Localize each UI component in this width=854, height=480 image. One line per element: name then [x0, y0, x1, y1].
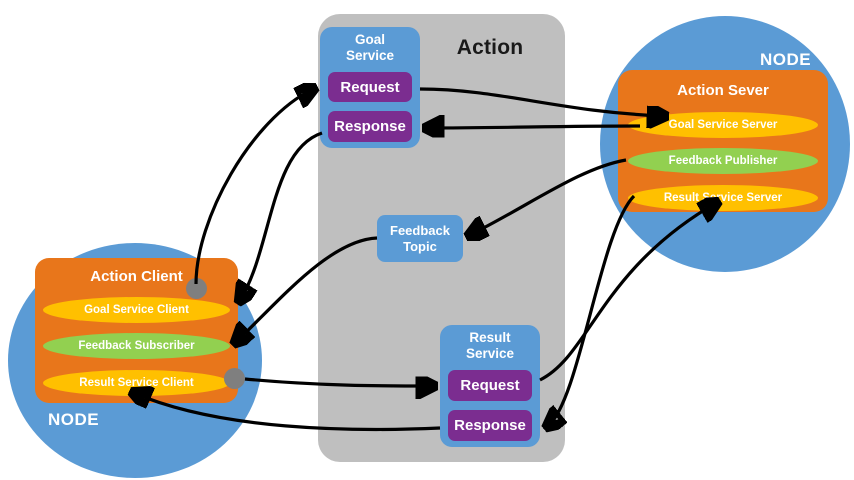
goal-service-title-line2: Service — [346, 48, 394, 63]
pill-feedback-subscriber[interactable]: Feedback Subscriber — [43, 333, 230, 359]
pill-goal-service-server[interactable]: Goal Service Server — [628, 112, 818, 138]
action-client-title: Action Client — [35, 268, 238, 285]
action-server-title: Action Sever — [618, 82, 828, 99]
feedback-topic-box[interactable]: Feedback Topic — [377, 215, 463, 262]
pill-result-service-server[interactable]: Result Service Server — [628, 185, 818, 211]
feedback-topic-line2: Topic — [403, 239, 437, 255]
goal-service-title: Goal Service — [320, 32, 420, 64]
arrow-response-to-goal-service-client — [240, 133, 322, 300]
goal-service-box: Goal Service Request Response — [320, 27, 420, 148]
result-service-title: Result Service — [440, 330, 540, 362]
goal-service-title-line1: Goal — [355, 32, 385, 47]
result-service-title-line2: Service — [466, 346, 514, 361]
feedback-topic-line1: Feedback — [390, 223, 450, 239]
result-service-box: Result Service Request Response — [440, 325, 540, 447]
result-service-request[interactable]: Request — [448, 370, 532, 401]
pill-result-service-client[interactable]: Result Service Client — [43, 370, 230, 396]
action-server-box: Action Sever Goal Service Server Feedbac… — [618, 70, 828, 212]
node-label-server: NODE — [760, 50, 811, 70]
connector-dot-result-client — [224, 368, 245, 389]
connector-dot-goal-client — [186, 278, 207, 299]
action-client-box: Action Client Goal Service Client Feedba… — [35, 258, 238, 403]
result-service-title-line1: Result — [469, 330, 510, 345]
diagram-canvas: Action NODE Action Sever Goal Service Se… — [0, 0, 854, 480]
action-group-label: Action — [430, 36, 550, 60]
pill-feedback-publisher[interactable]: Feedback Publisher — [628, 148, 818, 174]
arrow-goal-client-to-request — [196, 89, 313, 284]
result-service-response[interactable]: Response — [448, 410, 532, 441]
goal-service-response[interactable]: Response — [328, 111, 412, 142]
node-label-client: NODE — [48, 410, 99, 430]
goal-service-request[interactable]: Request — [328, 72, 412, 102]
pill-goal-service-client[interactable]: Goal Service Client — [43, 297, 230, 323]
